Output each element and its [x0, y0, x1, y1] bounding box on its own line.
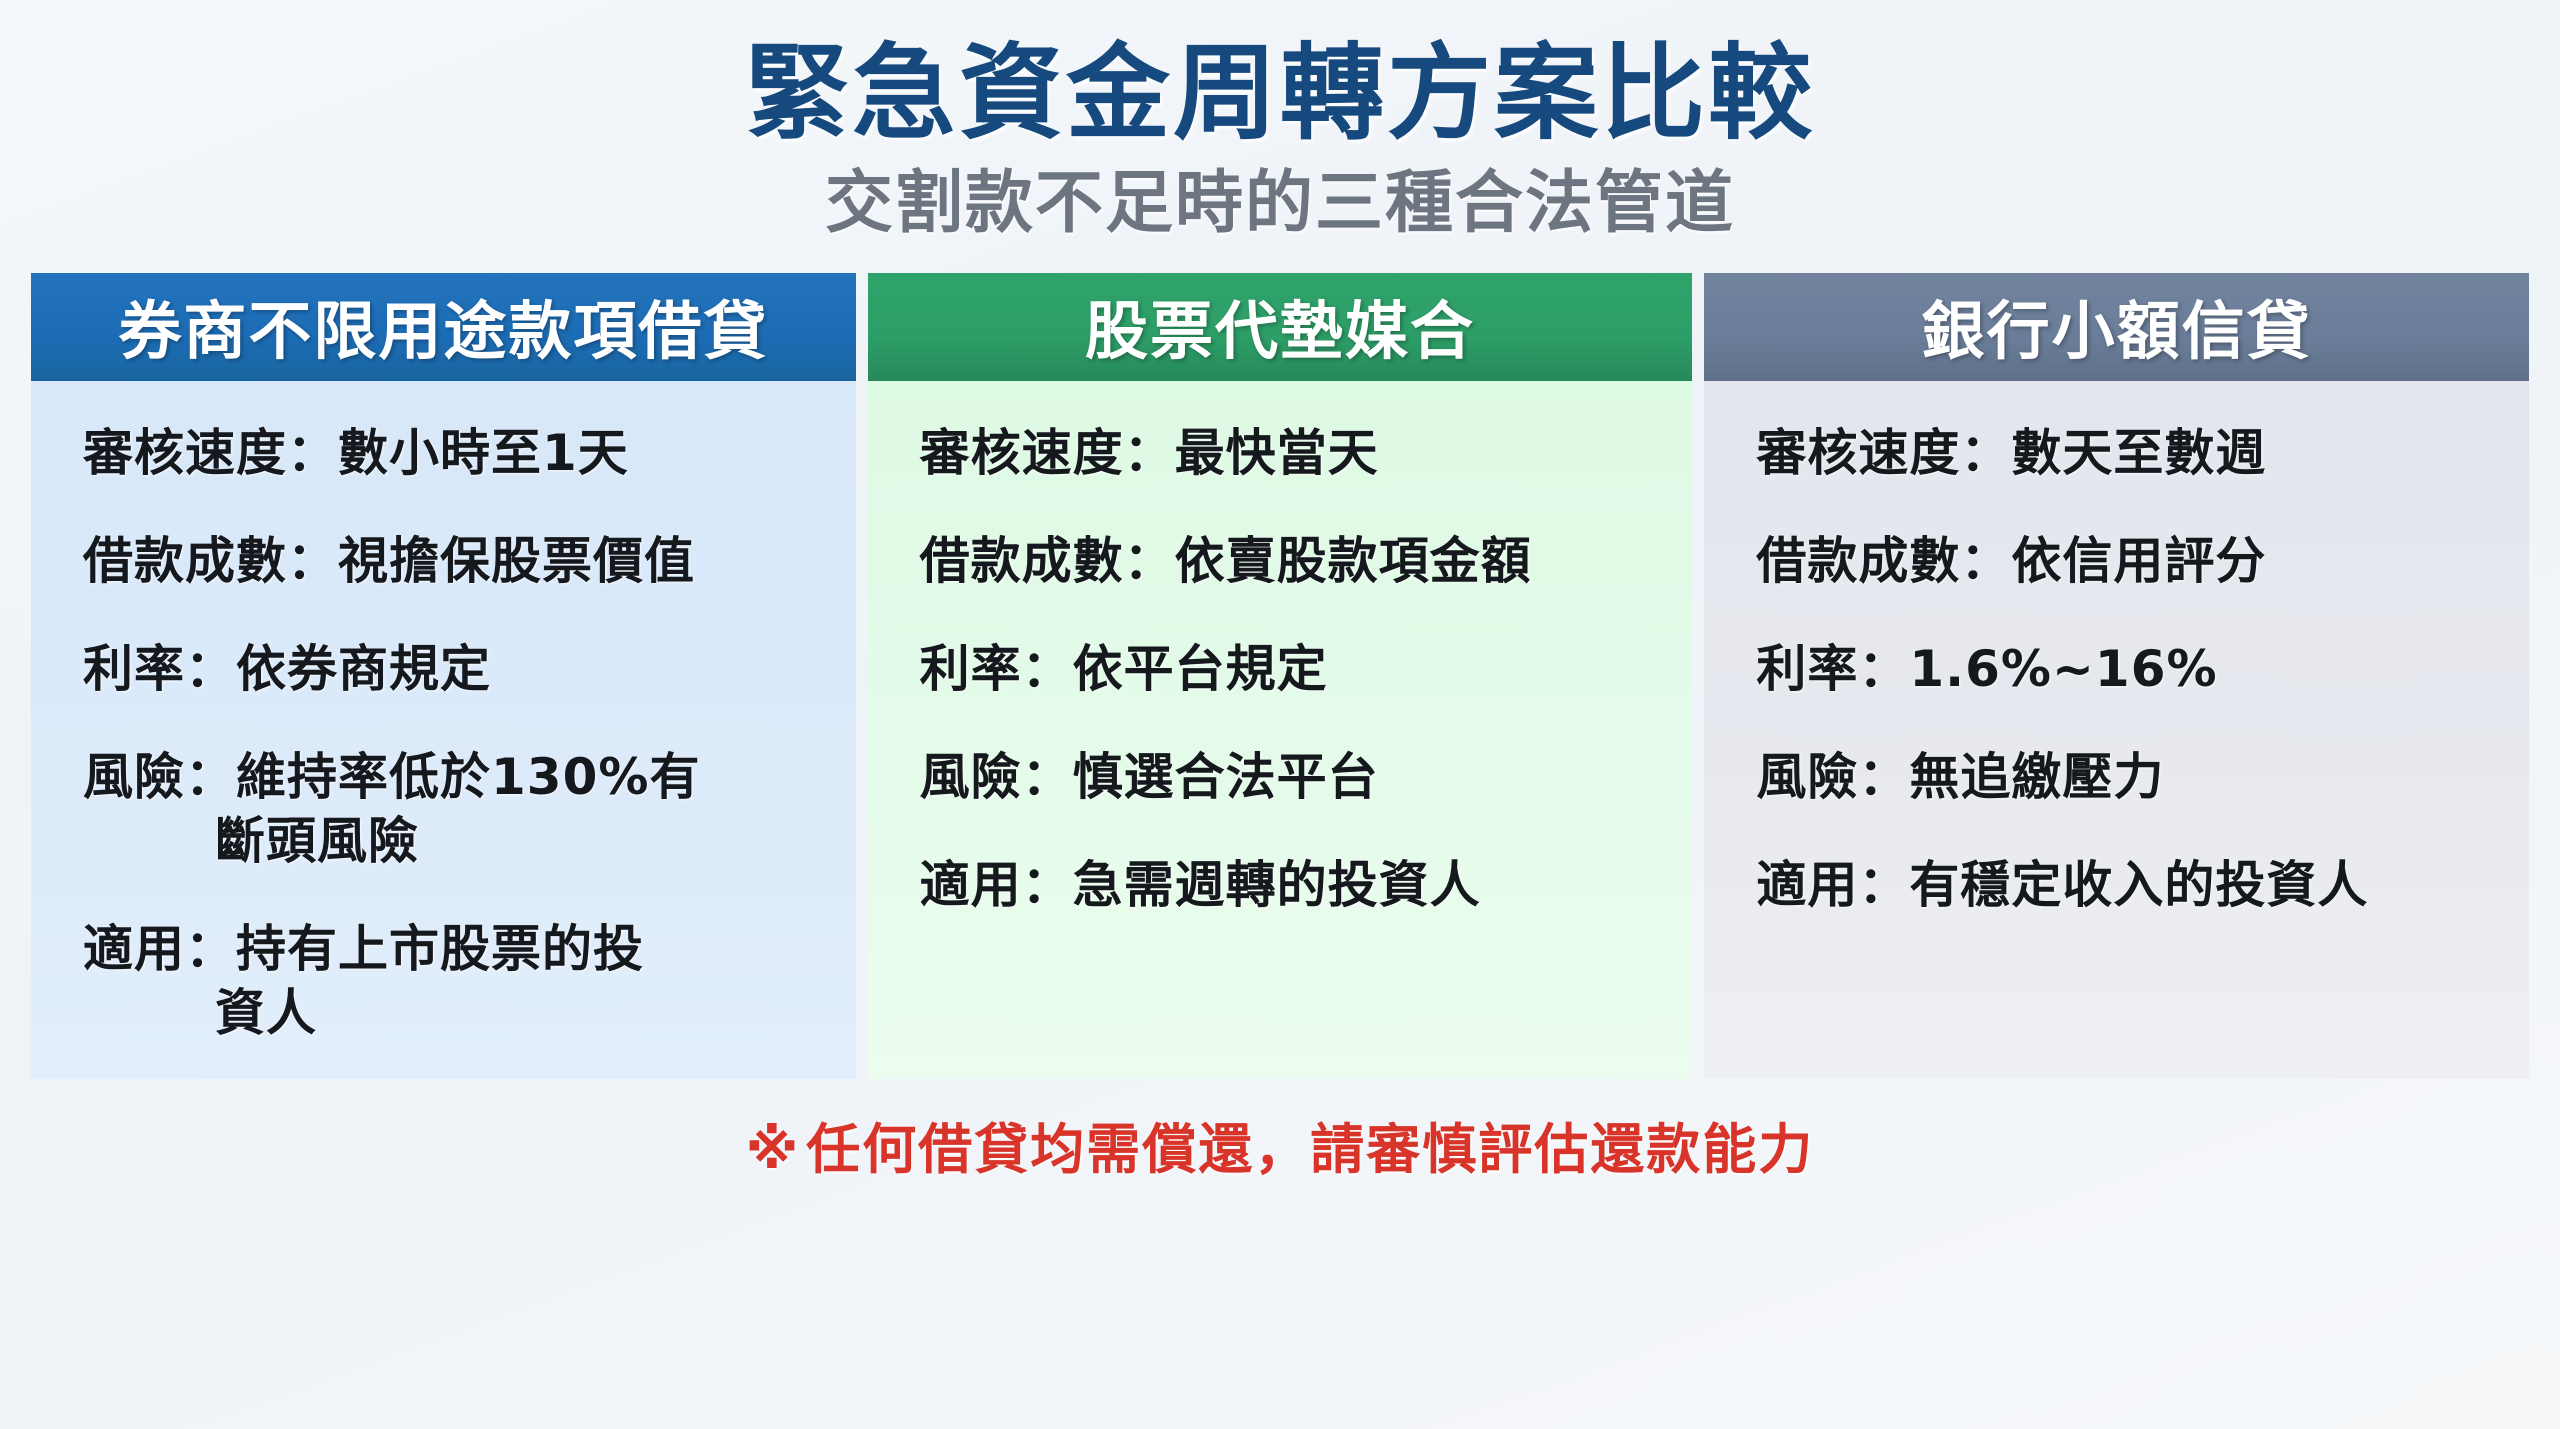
list-item-line1: 適用：持有上市股票的投 — [83, 920, 644, 978]
column-header-stock-advance: 股票代墊媒合 — [868, 273, 1693, 381]
list-item-line1: 風險：維持率低於130%有 — [83, 748, 700, 806]
list-item-line2: 資人 — [83, 981, 822, 1045]
list-item: 審核速度：數天至數週 — [1738, 421, 2495, 485]
list-item: 風險：維持率低於130%有 斷頭風險 — [65, 745, 822, 873]
list-item: 風險：慎選合法平台 — [902, 745, 1659, 809]
disclaimer-note: ※任何借貸均需償還，請審慎評估還款能力 — [0, 1105, 2560, 1184]
disclaimer-text: 任何借貸均需償還，請審慎評估還款能力 — [806, 1118, 1814, 1181]
comparison-column-bank-credit: 銀行小額信貸 審核速度：數天至數週 借款成數：依信用評分 利率：1.6%~16%… — [1704, 273, 2529, 1079]
list-item-line2: 斷頭風險 — [83, 809, 822, 873]
comparison-table: 券商不限用途款項借貸 審核速度：數小時至1天 借款成數：視擔保股票價值 利率：依… — [31, 273, 2529, 1079]
list-item: 適用：持有上市股票的投 資人 — [65, 917, 822, 1045]
column-body-broker-loan: 審核速度：數小時至1天 借款成數：視擔保股票價值 利率：依券商規定 風險：維持率… — [31, 381, 856, 1079]
list-item: 審核速度：最快當天 — [902, 421, 1659, 485]
list-item: 適用：急需週轉的投資人 — [902, 853, 1659, 917]
list-item: 利率：1.6%~16% — [1738, 637, 2495, 701]
infographic-page: 緊急資金周轉方案比較 交割款不足時的三種合法管道 券商不限用途款項借貸 審核速度… — [0, 0, 2560, 1429]
page-subtitle: 交割款不足時的三種合法管道 — [0, 165, 2560, 243]
list-item: 借款成數：依信用評分 — [1738, 529, 2495, 593]
page-title: 緊急資金周轉方案比較 — [0, 34, 2560, 153]
list-item: 利率：依平台規定 — [902, 637, 1659, 701]
comparison-column-broker-loan: 券商不限用途款項借貸 審核速度：數小時至1天 借款成數：視擔保股票價值 利率：依… — [31, 273, 856, 1079]
column-body-bank-credit: 審核速度：數天至數週 借款成數：依信用評分 利率：1.6%~16% 風險：無追繳… — [1704, 381, 2529, 1079]
comparison-column-stock-advance: 股票代墊媒合 審核速度：最快當天 借款成數：依賣股款項金額 利率：依平台規定 風… — [868, 273, 1693, 1079]
column-body-stock-advance: 審核速度：最快當天 借款成數：依賣股款項金額 利率：依平台規定 風險：慎選合法平… — [868, 381, 1693, 1079]
list-item: 借款成數：視擔保股票價值 — [65, 529, 822, 593]
column-header-broker-loan: 券商不限用途款項借貸 — [31, 273, 856, 381]
reference-mark-icon: ※ — [746, 1118, 801, 1181]
list-item: 借款成數：依賣股款項金額 — [902, 529, 1659, 593]
column-header-bank-credit: 銀行小額信貸 — [1704, 273, 2529, 381]
list-item: 利率：依券商規定 — [65, 637, 822, 701]
list-item: 審核速度：數小時至1天 — [65, 421, 822, 485]
title-block: 緊急資金周轉方案比較 交割款不足時的三種合法管道 — [0, 0, 2560, 243]
list-item: 適用：有穩定收入的投資人 — [1738, 853, 2495, 917]
list-item: 風險：無追繳壓力 — [1738, 745, 2495, 809]
